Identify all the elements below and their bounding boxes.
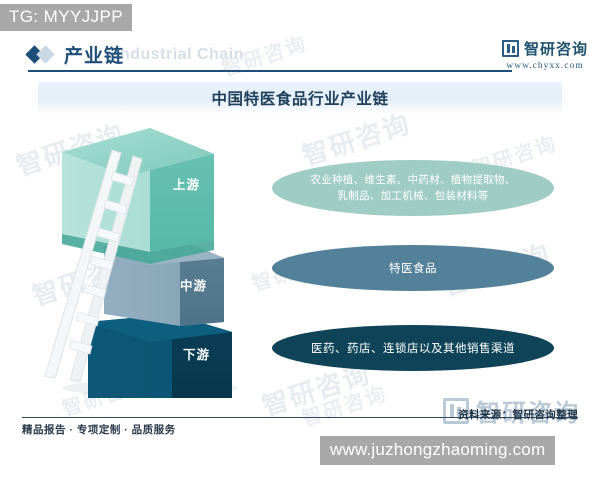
background-watermark: 智研咨询 xyxy=(298,377,391,432)
box-label-upstream: 上游 xyxy=(173,174,200,193)
ellipse-upstream: 农业种植、维生素、中药材、植物提取物、 乳制品、加工机械、包装材料等 xyxy=(272,160,554,216)
brand-logo: 智研咨询 www.chyxx.com xyxy=(502,38,588,71)
ellipse-midstream-line1: 特医食品 xyxy=(389,260,437,276)
zhiyan-logo-icon xyxy=(502,40,519,57)
ellipse-downstream: 医药、药店、连锁店以及其他销售渠道 xyxy=(272,325,554,371)
header-divider xyxy=(28,70,512,72)
section-title-cn: 产业链 xyxy=(64,41,124,68)
section-title-en: Industrial Chain xyxy=(115,46,244,64)
footer-slogan: 精品报告 · 专项定制 · 品质服务 xyxy=(22,422,176,437)
tg-watermark-tag: TG: MYYJJPP xyxy=(0,4,132,31)
ellipse-upstream-line2: 乳制品、加工机械、包装材料等 xyxy=(310,188,515,204)
diamond-bullet-icon xyxy=(28,46,62,64)
ellipse-upstream-line1: 农业种植、维生素、中药材、植物提取物、 xyxy=(310,172,515,188)
ellipse-midstream: 特医食品 xyxy=(272,245,554,291)
slide-canvas: 智研咨询 智研咨询 智研咨询 智研咨询 智研咨询 智研咨询 智研咨询 智研咨询 … xyxy=(0,0,600,480)
brand-url: www.chyxx.com xyxy=(502,61,588,71)
chain-stack-graphic: 上游 中游 下游 xyxy=(0,110,300,400)
stacked-boxes-svg xyxy=(0,110,300,400)
brand-name: 智研咨询 xyxy=(524,38,588,59)
box-label-midstream: 中游 xyxy=(180,275,207,294)
footer-source: 资料来源：智研咨询整理 xyxy=(458,407,578,422)
ellipse-downstream-line1: 医药、药店、连锁店以及其他销售渠道 xyxy=(311,340,515,356)
slide-header: Industrial Chain 产业链 智研咨询 www.chyxx.com xyxy=(0,38,600,76)
url-watermark-tag: www.juzhongzhaoming.com xyxy=(320,436,555,465)
page-title: 中国特医食品行业产业链 xyxy=(211,87,388,109)
box-label-downstream: 下游 xyxy=(183,344,210,363)
